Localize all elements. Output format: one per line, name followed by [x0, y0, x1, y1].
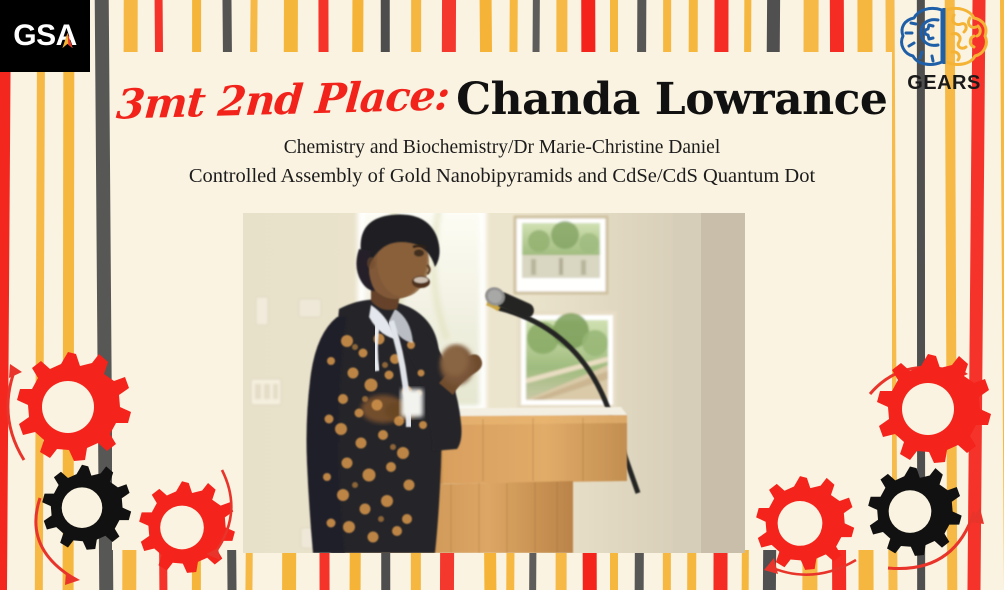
project-title-line: Controlled Assembly of Gold Nanobipyrami… — [112, 165, 892, 188]
gear-icon — [139, 481, 235, 573]
winner-name: Chanda Lowrance — [456, 74, 887, 125]
department-advisor-line: Chemistry and Biochemistry/Dr Marie-Chri… — [112, 137, 892, 159]
gear-icon — [756, 476, 854, 570]
gsa-logo-text: GSA — [13, 21, 77, 51]
page-title: 3mt 2nd Place:Chanda Lowrance — [112, 74, 892, 125]
gear-icon — [17, 352, 131, 461]
gsa-logo: GSA — [0, 0, 90, 72]
poster: GSA — [0, 0, 1004, 590]
brain-gear-icon — [892, 2, 996, 70]
gears-logo: GEARS — [892, 2, 996, 94]
gear-cluster-left — [0, 330, 260, 590]
presenter-photo-image — [243, 213, 745, 553]
award-label: 3mt 2nd Place: — [114, 71, 450, 128]
presenter-photo — [243, 213, 745, 553]
gear-icon — [42, 465, 131, 550]
gear-icon — [877, 354, 991, 463]
gsa-accent-icon — [59, 32, 76, 49]
gear-cluster-right — [744, 330, 1004, 590]
gears-logo-label: GEARS — [892, 72, 996, 95]
gear-icon — [868, 466, 961, 555]
